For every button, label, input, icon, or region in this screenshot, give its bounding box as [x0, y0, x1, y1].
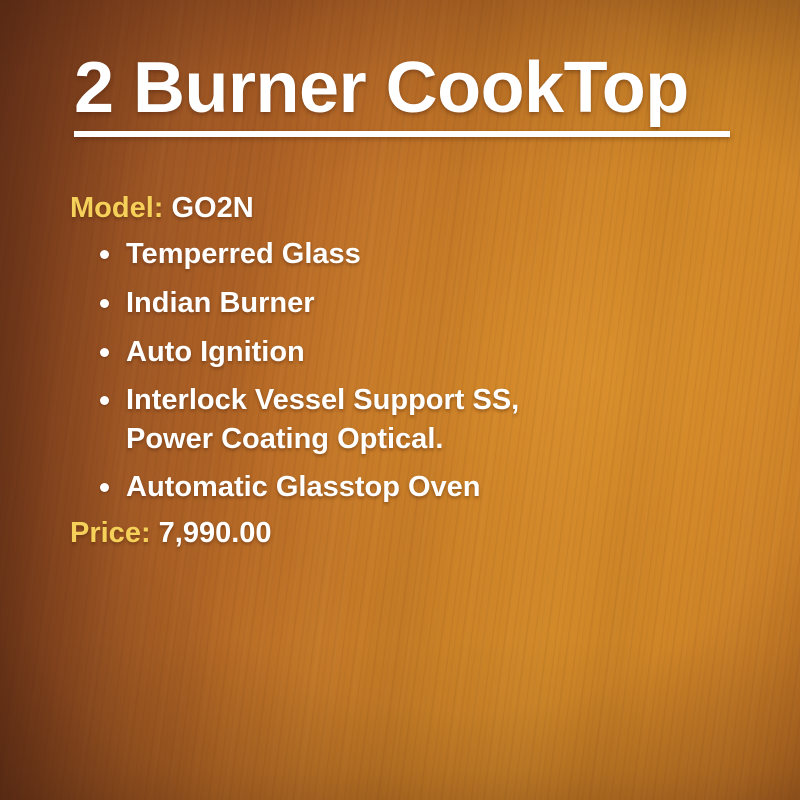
- model-label: Model:: [70, 192, 163, 224]
- list-item: Auto Ignition: [100, 333, 596, 372]
- price-label: Price:: [70, 517, 151, 549]
- list-item: Interlock Vessel Support SS, Power Coati…: [100, 381, 596, 458]
- model-line: Model: GO2N: [70, 192, 730, 224]
- price-value: 7,990.00: [159, 517, 272, 549]
- price-line: Price: 7,990.00: [70, 517, 730, 549]
- list-item: Automatic Glasstop Oven: [100, 468, 596, 507]
- list-item: Indian Burner: [100, 284, 596, 323]
- feature-list: Temperred Glass Indian Burner Auto Ignit…: [70, 235, 730, 506]
- title-underline: [74, 131, 730, 137]
- list-item: Temperred Glass: [100, 235, 596, 274]
- feature-text: Indian Burner: [126, 287, 315, 319]
- feature-text: Interlock Vessel Support SS, Power Coati…: [126, 384, 519, 455]
- feature-text: Auto Ignition: [126, 336, 305, 368]
- slide-content: 2 Burner CookTop Model: GO2N Temperred G…: [0, 0, 800, 800]
- product-slide: 2 Burner CookTop Model: GO2N Temperred G…: [0, 0, 800, 800]
- page-title: 2 Burner CookTop: [74, 52, 689, 124]
- feature-text: Temperred Glass: [126, 238, 361, 270]
- product-details: Model: GO2N Temperred Glass Indian Burne…: [70, 192, 730, 549]
- model-value: GO2N: [172, 192, 254, 224]
- feature-text: Automatic Glasstop Oven: [126, 471, 481, 503]
